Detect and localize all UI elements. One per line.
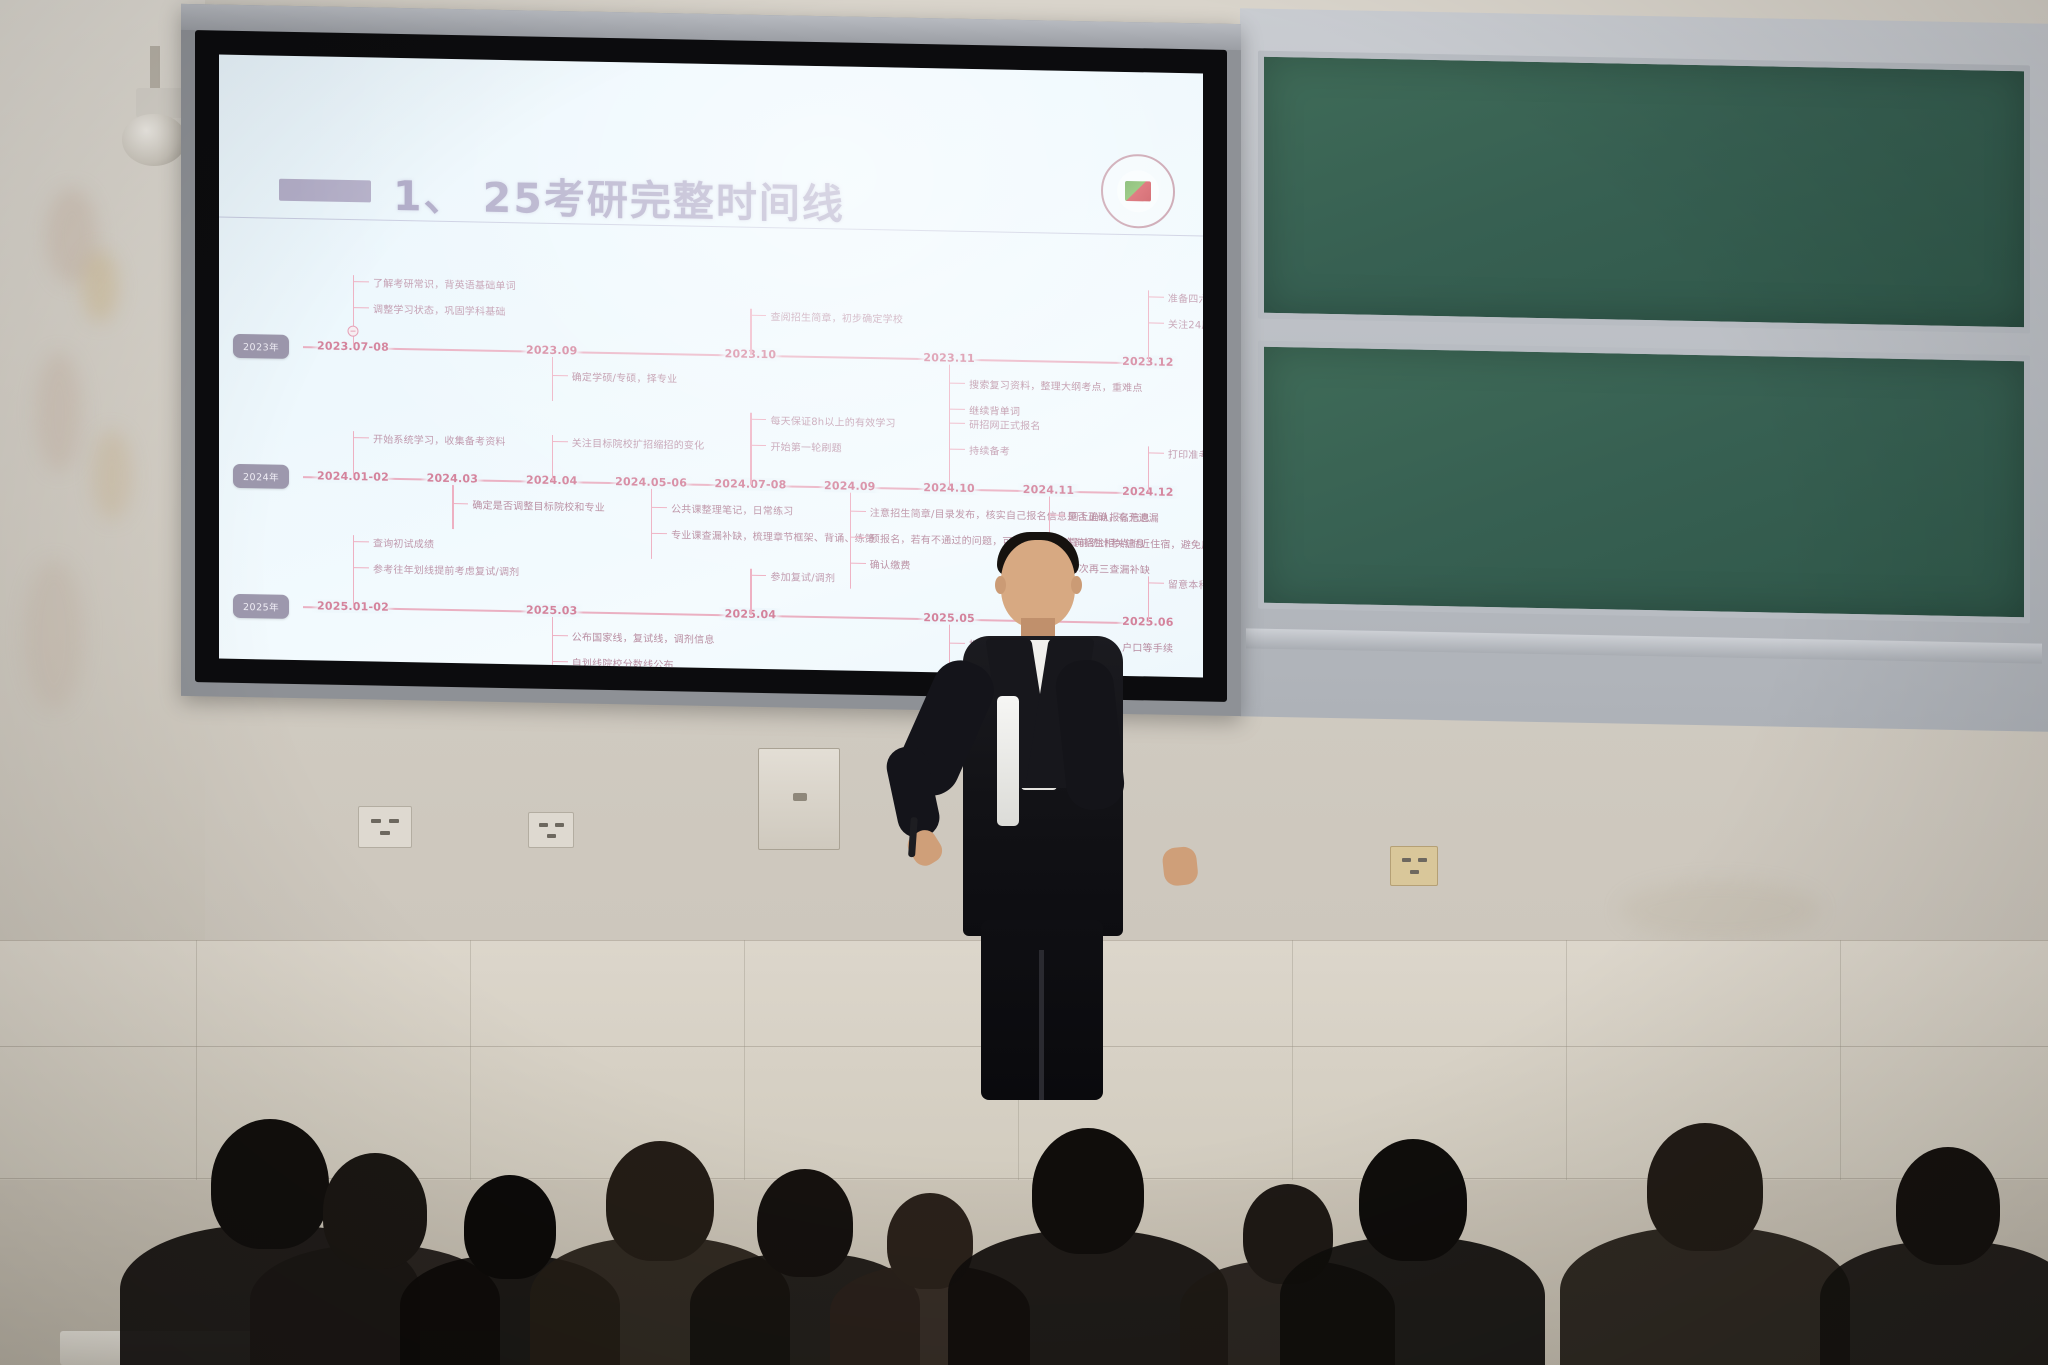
presenter-hand-right [1161, 846, 1199, 887]
timeline-item-text: 搜索复习资料，整理大纲考点，重难点 [969, 376, 1142, 394]
student-head [1032, 1128, 1144, 1254]
timeline-item-text: 确定是否调整目标院校和专业 [472, 496, 605, 514]
student-head [1359, 1139, 1467, 1261]
timeline-item-text: 开始系统学习，收集备考资料 [373, 431, 506, 449]
timeline-connector [552, 441, 568, 443]
timeline-connector [452, 485, 453, 529]
timeline-item-text: 关注目标院校扩招缩招的变化 [572, 434, 705, 452]
timeline-node-label: 2024.11 [1017, 483, 1081, 497]
wall-outlet-plate[interactable] [528, 812, 574, 848]
wall-outlet-plate[interactable] [358, 806, 412, 848]
timeline-node-label: 2023.09 [520, 343, 584, 357]
timeline-connector [651, 489, 652, 559]
timeline-item-text: 每天保证8h以上的有效学习 [770, 412, 895, 429]
timeline-item-text: 了解考研常识，背英语基础单词 [373, 275, 516, 293]
timeline-item-text: 研招网正式报名 [969, 416, 1040, 432]
timeline-year-badge: 2025年 [233, 594, 289, 619]
timeline-node-dot [348, 326, 359, 337]
chalkboard-frame [1240, 8, 2048, 732]
presenter-head [1001, 540, 1075, 628]
presenter-figure [905, 520, 1175, 1080]
microphone[interactable] [997, 696, 1019, 826]
audience-row [0, 1140, 2048, 1365]
timeline-connector [353, 437, 369, 439]
timeline-connector [949, 417, 950, 489]
timeline-item-text: 查询初试成绩 [373, 535, 434, 551]
timeline-item-text: 准备四六级和期末考 [1168, 290, 1203, 307]
chalkboard-panel-top [1258, 51, 2030, 334]
timeline-connector [651, 507, 667, 509]
logo-shield [1125, 181, 1151, 201]
wall-stain [36, 352, 82, 472]
student-silhouette [1560, 1197, 1850, 1365]
timeline-connector [552, 635, 568, 637]
student-head [1647, 1123, 1763, 1251]
timeline-connector [353, 535, 354, 607]
timeline-connector [850, 537, 866, 539]
wall-access-panel[interactable] [758, 748, 840, 850]
camera-mount-arm [150, 46, 160, 90]
timeline-item-text: 专业课查漏补缺，梳理章节框架、背诵、练策 [671, 526, 875, 545]
timeline-year-badge: 2024年 [233, 464, 289, 489]
timeline-connector [949, 409, 965, 411]
presenter-ear [995, 576, 1006, 594]
timeline-node-label: 2024.09 [818, 479, 882, 493]
timeline-item-text: 打印准考证（多花几版），参加考试！ [1168, 446, 1203, 464]
timeline-connector [353, 541, 369, 543]
timeline-connector [850, 511, 866, 513]
timeline-item-text: 自划线院校分数线公布 [572, 654, 674, 671]
timeline-year-badge: 2023年 [233, 334, 289, 359]
wall-stain [82, 250, 118, 322]
timeline-connector [552, 617, 553, 678]
timeline-item-text: 公布国家线，复试线，调剂信息 [572, 628, 715, 646]
timeline-connector [1148, 296, 1164, 298]
timeline-item-text: 公共课整理笔记，日常练习 [671, 500, 793, 517]
student-silhouette [1280, 1203, 1545, 1365]
classroom-scene: 1、 25考研完整时间线 2023年2023.07-08了解考研常识，背英语基础… [0, 0, 2048, 1365]
timeline-connector [750, 413, 751, 485]
timeline-node-label: 2024.05-06 [609, 475, 693, 490]
timeline-item-text: 参加复试/调剂 [770, 568, 835, 584]
timeline-item-text: 确定学硕/专硕，择专业 [572, 368, 678, 385]
timeline-item-text: 查阅招生简章，初步确定学校 [770, 308, 903, 326]
timeline-connector [949, 449, 965, 451]
timeline-connector [949, 383, 965, 385]
university-logo-icon [1101, 153, 1175, 228]
timeline-connector [750, 445, 766, 447]
timeline-connector [850, 493, 851, 589]
title-accent-bar [279, 179, 371, 203]
timeline-connector [750, 419, 766, 421]
timeline-connector [452, 503, 468, 505]
timeline-item-text: 关注24届初试情况 [1168, 316, 1203, 333]
timeline-connector [1148, 322, 1164, 324]
timeline-connector [353, 281, 369, 283]
wall-outlet-plate[interactable] [1390, 846, 1438, 886]
wall-stain [1620, 880, 1820, 940]
panel-latch[interactable] [793, 793, 807, 801]
wall-stain [92, 430, 132, 520]
timeline-connector [552, 375, 568, 377]
presenter-leg-gap [1039, 950, 1044, 1100]
timeline-item-text: 参考往年划线提前考虑复试/调剂 [373, 561, 519, 579]
timeline-item-text: 调整学习状态，巩固学科基础 [373, 301, 506, 319]
timeline-node-label: 2024.03 [421, 471, 485, 485]
student-silhouette [1820, 1207, 2048, 1365]
timeline-item-text: 持续备考 [969, 442, 1010, 458]
chalk-ledge [1246, 628, 2042, 663]
timeline-connector [750, 575, 766, 577]
timeline-connector [949, 423, 965, 425]
timeline-connector [353, 567, 369, 569]
camera-dome [122, 114, 186, 166]
timeline-connector [552, 357, 553, 401]
chalkboard-panel-bottom [1258, 341, 2030, 624]
timeline-connector [1148, 290, 1149, 362]
timeline-connector [552, 661, 568, 663]
timeline-connector [1148, 452, 1164, 454]
timeline-connector [353, 307, 369, 309]
logo-inner-circle [1117, 170, 1159, 213]
timeline-node-label: 2025.03 [520, 603, 584, 617]
wall-stain [24, 560, 84, 710]
presenter-ear [1071, 576, 1082, 594]
timeline-connector [750, 315, 766, 317]
timeline-connector [850, 563, 866, 565]
timeline-item-text: 开始第一轮刷题 [770, 438, 841, 454]
timeline-connector [651, 533, 667, 535]
timeline-node-label: 2023.11 [917, 351, 981, 365]
student-head [1896, 1147, 2000, 1265]
